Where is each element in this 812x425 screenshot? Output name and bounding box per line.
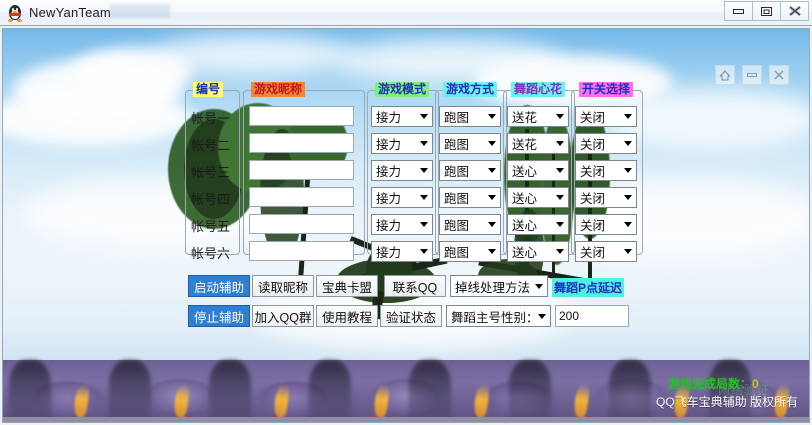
flower-combo-value-3: 送心 — [512, 161, 552, 180]
nickname-input-4[interactable] — [249, 187, 354, 207]
row-label-2: 帐号二 — [191, 135, 230, 154]
column-header-flower: 舞蹈心花 — [511, 82, 565, 97]
chevron-down-icon[interactable] — [484, 161, 500, 180]
nickname-input-5[interactable] — [249, 214, 354, 234]
flower-combo-value-2: 送花 — [512, 134, 552, 153]
dance-main-gender-combo[interactable]: 舞蹈主号性别：女性 — [446, 305, 551, 327]
minimize-button[interactable] — [724, 1, 753, 21]
nickname-input-2[interactable] — [249, 133, 354, 153]
onoff-combo-3[interactable]: 关闭 — [575, 160, 637, 181]
offline-handling-combo[interactable]: 掉线处理方法：报警 — [450, 275, 548, 297]
way-combo-2[interactable]: 跑图 — [439, 133, 501, 154]
dance-p-delay-input[interactable] — [555, 305, 629, 327]
close-button[interactable] — [780, 1, 809, 21]
way-combo-value-1: 跑图 — [444, 107, 484, 126]
flower-combo-3[interactable]: 送心 — [507, 160, 569, 181]
flower-combo-value-5: 送心 — [512, 215, 552, 234]
chevron-down-icon[interactable] — [531, 276, 547, 296]
flower-combo-2[interactable]: 送花 — [507, 133, 569, 154]
onoff-combo-5[interactable]: 关闭 — [575, 214, 637, 235]
close-icon — [788, 5, 802, 17]
mode-combo-3[interactable]: 接力 — [371, 160, 433, 181]
chevron-down-icon[interactable] — [620, 161, 636, 180]
start-assist-button[interactable]: 启动辅助 — [188, 275, 250, 297]
mode-combo-1[interactable]: 接力 — [371, 106, 433, 127]
completed-games-value: 0 — [752, 377, 759, 391]
row-label-1: 帐号一 — [191, 108, 230, 127]
chevron-down-icon[interactable] — [484, 242, 500, 261]
mode-combo-value-3: 接力 — [376, 161, 416, 180]
read-nickname-button[interactable]: 读取昵称 — [252, 275, 314, 297]
onoff-combo-value-6: 关闭 — [580, 242, 620, 261]
column-header-nick: 游戏昵称 — [251, 82, 305, 97]
qq-penguin-icon — [6, 4, 24, 22]
offline-handling-value: 掉线处理方法：报警 — [455, 277, 531, 296]
chevron-down-icon[interactable] — [416, 107, 432, 126]
column-header-id: 编号 — [193, 82, 223, 97]
main-form: 编号 游戏昵称 游戏模式 游戏方式 舞蹈心花 开关选择 帐号一 接力 — [3, 29, 810, 423]
flower-combo-5[interactable]: 送心 — [507, 214, 569, 235]
way-combo-value-5: 跑图 — [444, 215, 484, 234]
card-union-button[interactable]: 宝典卡盟 — [316, 275, 378, 297]
contact-qq-button[interactable]: 联系QQ — [384, 275, 446, 297]
minimize-icon — [732, 6, 745, 17]
onoff-combo-value-1: 关闭 — [580, 107, 620, 126]
nickname-input-3[interactable] — [249, 160, 354, 180]
mode-combo-6[interactable]: 接力 — [371, 241, 433, 262]
restore-button[interactable] — [752, 1, 781, 21]
mode-combo-value-1: 接力 — [376, 107, 416, 126]
chevron-down-icon[interactable] — [416, 215, 432, 234]
nickname-input-6[interactable] — [249, 241, 354, 261]
flower-combo-4[interactable]: 送心 — [507, 187, 569, 208]
copyright-text: QQ飞车宝典辅助 版权所有 — [656, 393, 798, 410]
column-header-way: 游戏方式 — [443, 82, 497, 97]
way-combo-value-3: 跑图 — [444, 161, 484, 180]
chevron-down-icon[interactable] — [552, 188, 568, 207]
onoff-combo-1[interactable]: 关闭 — [575, 106, 637, 127]
mode-combo-4[interactable]: 接力 — [371, 187, 433, 208]
chevron-down-icon[interactable] — [534, 306, 550, 326]
way-combo-3[interactable]: 跑图 — [439, 160, 501, 181]
tutorial-button[interactable]: 使用教程 — [316, 305, 378, 327]
onoff-combo-4[interactable]: 关闭 — [575, 187, 637, 208]
chevron-down-icon[interactable] — [620, 242, 636, 261]
chevron-down-icon[interactable] — [416, 161, 432, 180]
way-combo-value-4: 跑图 — [444, 188, 484, 207]
chevron-down-icon[interactable] — [552, 107, 568, 126]
way-combo-1[interactable]: 跑图 — [439, 106, 501, 127]
chevron-down-icon[interactable] — [620, 134, 636, 153]
flower-combo-value-1: 送花 — [512, 107, 552, 126]
onoff-combo-value-3: 关闭 — [580, 161, 620, 180]
app-canvas: 编号 游戏昵称 游戏模式 游戏方式 舞蹈心花 开关选择 帐号一 接力 — [2, 28, 810, 423]
flower-combo-value-6: 送心 — [512, 242, 552, 261]
row-label-3: 帐号三 — [191, 162, 230, 181]
flower-combo-value-4: 送心 — [512, 188, 552, 207]
verify-status-button[interactable]: 验证状态 — [380, 305, 442, 327]
chevron-down-icon[interactable] — [484, 134, 500, 153]
way-combo-6[interactable]: 跑图 — [439, 241, 501, 262]
chevron-down-icon[interactable] — [484, 107, 500, 126]
chevron-down-icon[interactable] — [552, 215, 568, 234]
chevron-down-icon[interactable] — [484, 188, 500, 207]
chevron-down-icon[interactable] — [416, 188, 432, 207]
application-window: NewYanTeam — [0, 0, 812, 425]
flower-combo-1[interactable]: 送花 — [507, 106, 569, 127]
window-title: NewYanTeam — [29, 5, 111, 20]
chevron-down-icon[interactable] — [552, 161, 568, 180]
onoff-combo-value-5: 关闭 — [580, 215, 620, 234]
way-combo-5[interactable]: 跑图 — [439, 214, 501, 235]
chevron-down-icon[interactable] — [416, 242, 432, 261]
onoff-combo-2[interactable]: 关闭 — [575, 133, 637, 154]
chevron-down-icon[interactable] — [552, 242, 568, 261]
nickname-input-1[interactable] — [249, 106, 354, 126]
chevron-down-icon[interactable] — [552, 134, 568, 153]
dance-p-delay-label: 舞蹈P点延迟 — [552, 278, 624, 297]
completed-games-status: 游戏完成局数：0 — [668, 375, 759, 392]
title-bar[interactable]: NewYanTeam — [0, 0, 812, 26]
chevron-down-icon[interactable] — [416, 134, 432, 153]
stop-assist-button[interactable]: 停止辅助 — [188, 305, 250, 327]
onoff-combo-value-4: 关闭 — [580, 188, 620, 207]
mode-combo-2[interactable]: 接力 — [371, 133, 433, 154]
restore-icon — [760, 6, 773, 17]
title-bar-artifact — [110, 4, 170, 18]
mode-combo-value-6: 接力 — [376, 242, 416, 261]
row-label-6: 帐号六 — [191, 243, 230, 262]
column-header-mode: 游戏模式 — [375, 82, 429, 97]
row-label-4: 帐号四 — [191, 189, 230, 208]
mode-combo-value-4: 接力 — [376, 188, 416, 207]
way-combo-4[interactable]: 跑图 — [439, 187, 501, 208]
mode-combo-value-2: 接力 — [376, 134, 416, 153]
mode-combo-5[interactable]: 接力 — [371, 214, 433, 235]
join-qq-group-button[interactable]: 加入QQ群 — [252, 305, 314, 327]
way-combo-value-6: 跑图 — [444, 242, 484, 261]
chevron-down-icon[interactable] — [484, 215, 500, 234]
chevron-down-icon[interactable] — [620, 215, 636, 234]
onoff-combo-value-2: 关闭 — [580, 134, 620, 153]
dance-main-gender-value: 舞蹈主号性别：女性 — [451, 307, 534, 326]
chevron-down-icon[interactable] — [620, 107, 636, 126]
mode-combo-value-5: 接力 — [376, 215, 416, 234]
window-controls — [725, 1, 809, 21]
completed-games-label: 游戏完成局数： — [668, 377, 752, 391]
way-combo-value-2: 跑图 — [444, 134, 484, 153]
onoff-combo-6[interactable]: 关闭 — [575, 241, 637, 262]
column-header-onoff: 开关选择 — [579, 82, 633, 97]
flower-combo-6[interactable]: 送心 — [507, 241, 569, 262]
chevron-down-icon[interactable] — [620, 188, 636, 207]
row-label-5: 帐号五 — [191, 216, 230, 235]
